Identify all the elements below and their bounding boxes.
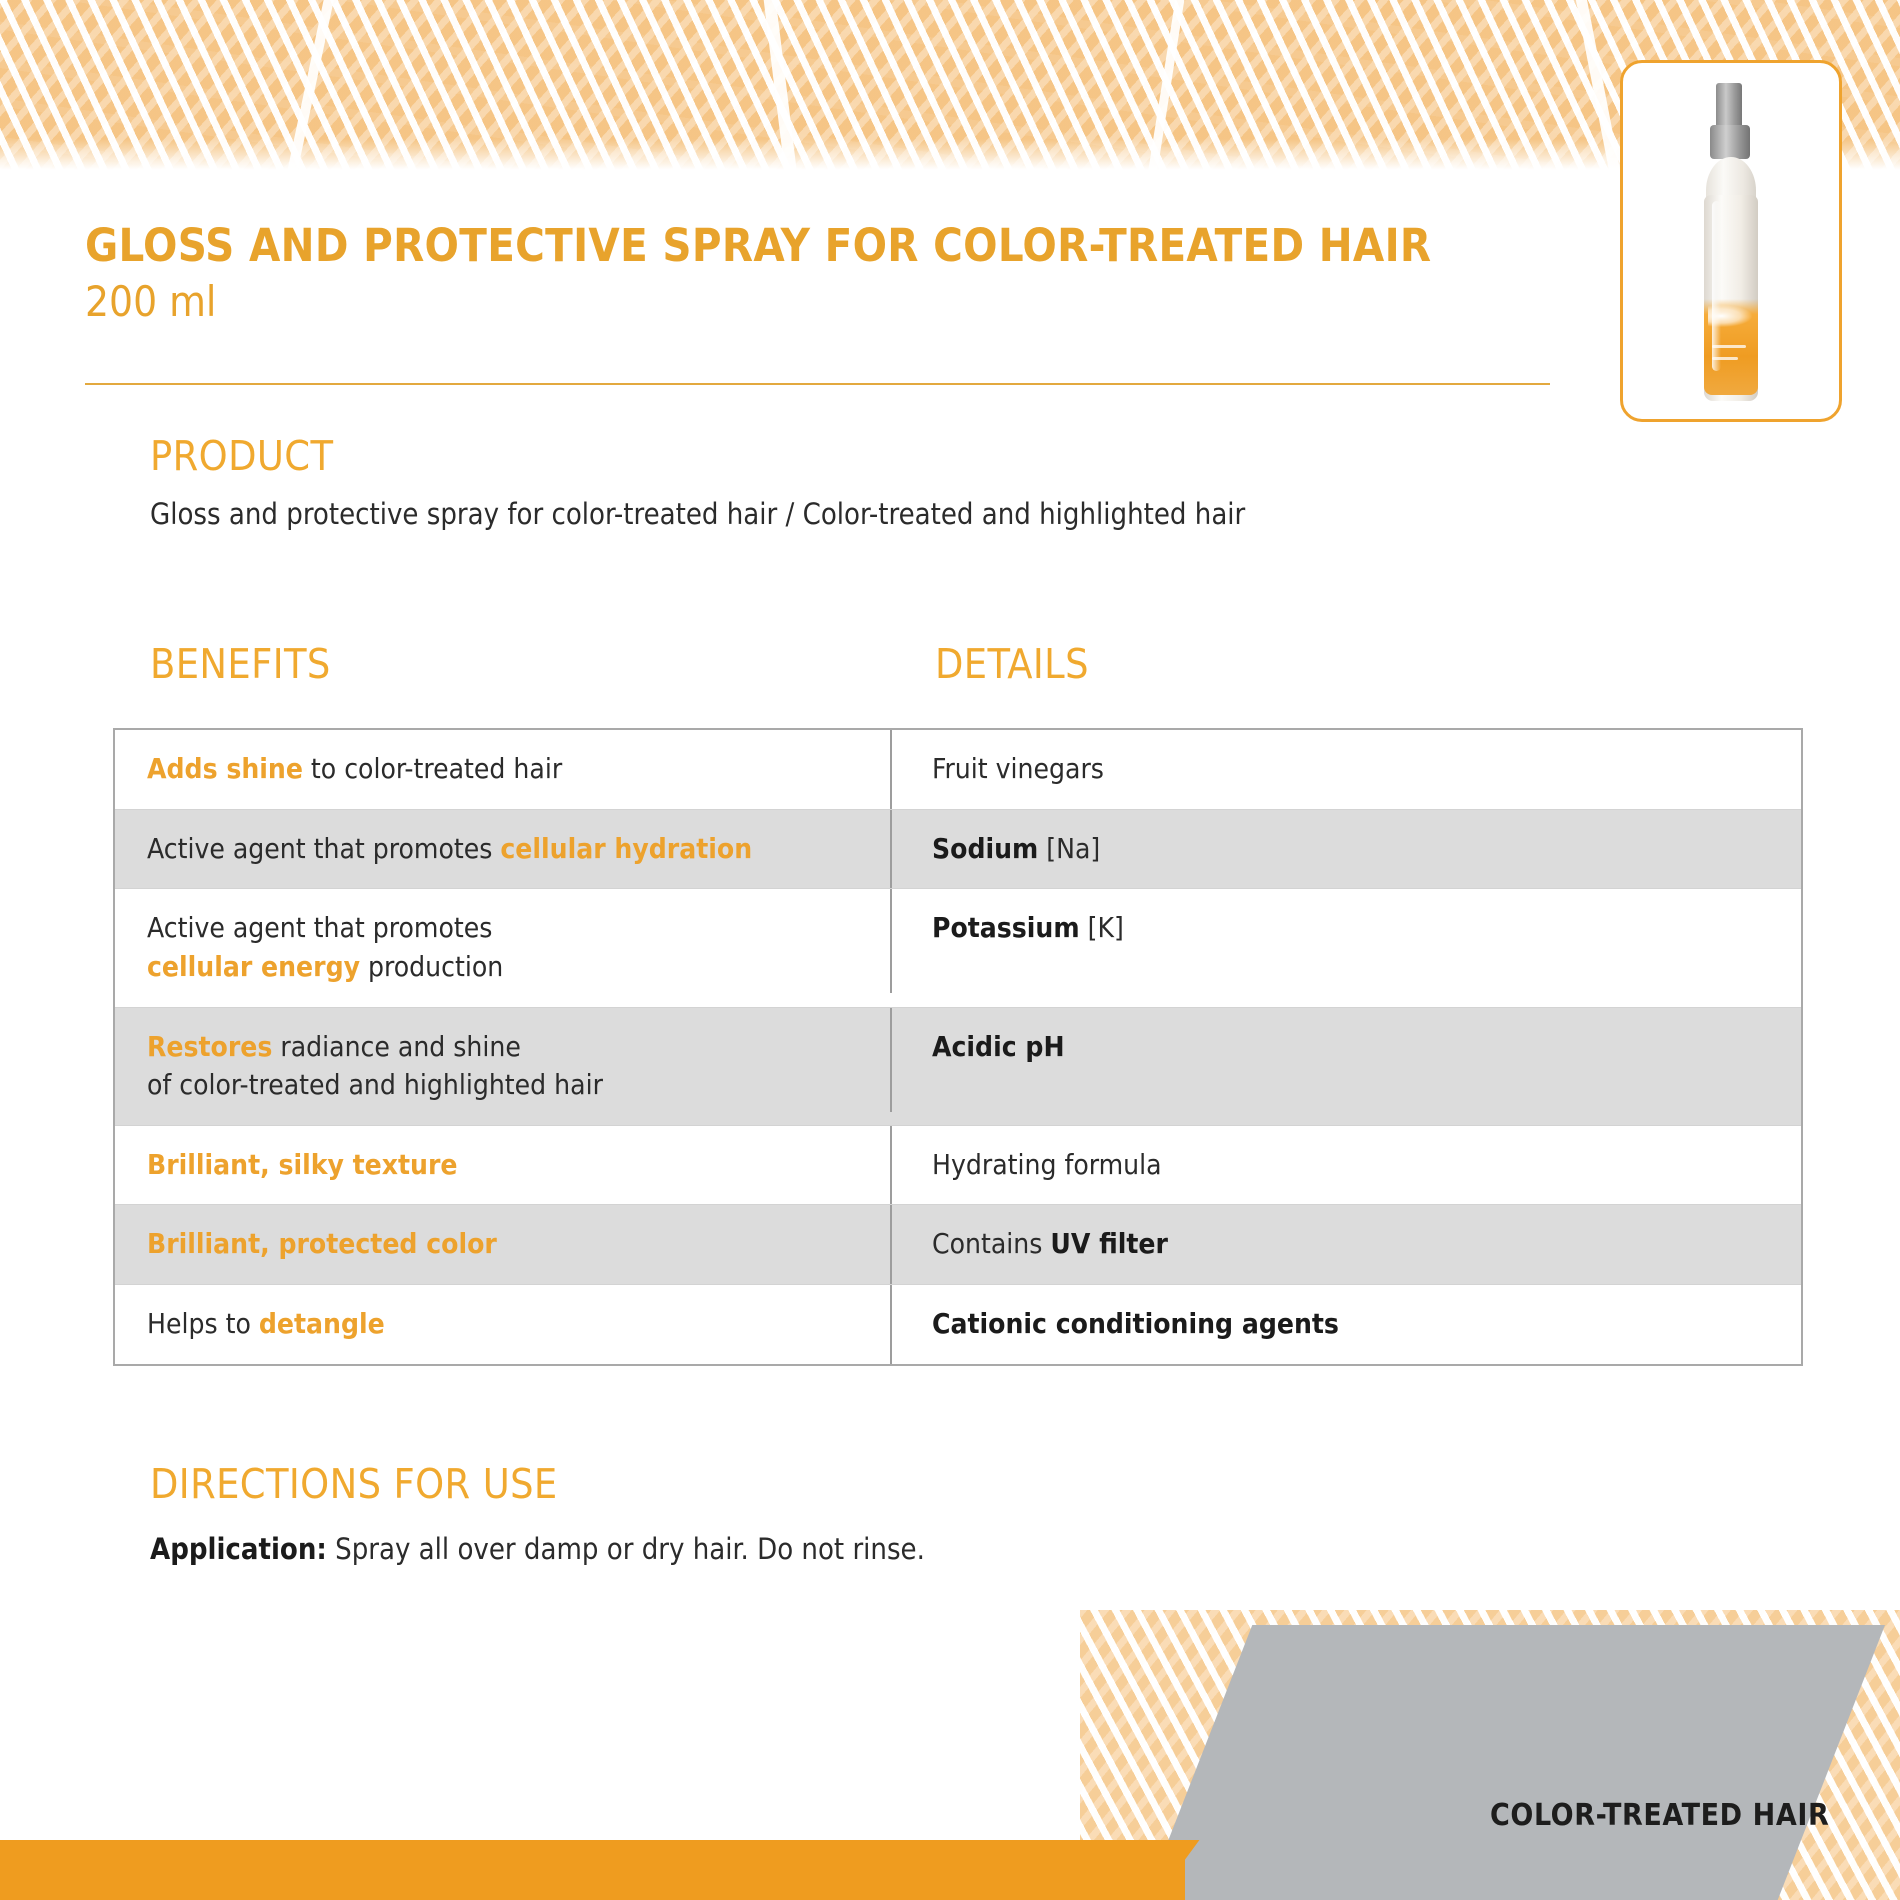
cell-text-fragment: Brilliant, silky texture — [147, 1148, 458, 1181]
cell-text-fragment: Hydrating formula — [932, 1148, 1162, 1181]
benefit-cell: Adds shine to color-treated hair — [115, 730, 890, 809]
product-bottle-icon — [1700, 83, 1762, 405]
detail-cell: Sodium [Na] — [890, 810, 1801, 889]
benefits-details-table: Adds shine to color-treated hairFruit vi… — [113, 728, 1803, 1366]
product-description: Gloss and protective spray for color-tre… — [150, 495, 1245, 534]
benefit-cell: Active agent that promotescellular energ… — [115, 889, 890, 1006]
directions-heading: DIRECTIONS FOR USE — [150, 1460, 558, 1508]
cell-text-fragment: Potassium — [932, 911, 1080, 944]
table-row: Adds shine to color-treated hairFruit vi… — [115, 730, 1801, 809]
footer-category-label: COLOR-TREATED HAIR — [1490, 1798, 1829, 1833]
benefit-cell: Active agent that promotes cellular hydr… — [115, 810, 890, 889]
table-row: Brilliant, silky textureHydrating formul… — [115, 1126, 1801, 1205]
footer-orange-bar — [0, 1840, 1185, 1900]
benefits-column-heading: BENEFITS — [150, 640, 331, 688]
cell-text-fragment: cellular hydration — [500, 832, 752, 865]
cell-text-fragment: of color-treated and highlighted hair — [147, 1068, 603, 1101]
header-leaf-texture — [0, 0, 1900, 175]
bottle-pump-collar — [1710, 125, 1750, 159]
cell-text-fragment: radiance and shine — [272, 1030, 521, 1063]
cell-text-fragment: production — [360, 950, 503, 983]
cell-text-fragment: Helps to — [147, 1307, 259, 1340]
cell-text-fragment: Restores — [147, 1030, 272, 1063]
benefit-cell: Restores radiance and shineof color-trea… — [115, 1008, 890, 1125]
cell-text-fragment: Cationic conditioning agents — [932, 1307, 1339, 1340]
footer-gray-parallelogram — [1145, 1625, 1885, 1900]
application-label: Application: — [150, 1532, 327, 1566]
table-row: Active agent that promotescellular energ… — [115, 889, 1801, 1006]
cell-text-fragment: UV filter — [1050, 1227, 1168, 1260]
title-divider — [85, 383, 1550, 385]
cell-text-fragment: Acidic pH — [932, 1030, 1065, 1063]
cell-text-fragment: detangle — [259, 1307, 385, 1340]
application-text: Spray all over damp or dry hair. Do not … — [327, 1532, 925, 1566]
product-section-heading: PRODUCT — [150, 432, 333, 480]
cell-text-fragment: Active agent that promotes — [147, 911, 492, 944]
benefit-cell: Brilliant, protected color — [115, 1205, 890, 1284]
bottle-highlight — [1712, 201, 1721, 371]
details-column-heading: DETAILS — [935, 640, 1089, 688]
cell-text-fragment: [Na] — [1038, 832, 1100, 865]
detail-cell: Acidic pH — [890, 1008, 1801, 1112]
detail-cell: Contains UV filter — [890, 1205, 1801, 1284]
cell-text-fragment: Contains — [932, 1227, 1050, 1260]
product-volume: 200 ml — [85, 279, 1585, 325]
benefit-cell: Brilliant, silky texture — [115, 1126, 890, 1205]
leaf-fade — [0, 139, 1900, 175]
cell-text-fragment: Brilliant, protected color — [147, 1227, 497, 1260]
page-title-block: GLOSS AND PROTECTIVE SPRAY FOR COLOR-TRE… — [85, 222, 1585, 325]
detail-cell: Hydrating formula — [890, 1126, 1801, 1205]
table-row: Restores radiance and shineof color-trea… — [115, 1008, 1801, 1125]
cell-text-fragment: to color-treated hair — [303, 752, 562, 785]
cell-text-fragment: Sodium — [932, 832, 1038, 865]
detail-cell: Cationic conditioning agents — [890, 1285, 1801, 1364]
bottle-spray-nozzle — [1716, 83, 1742, 127]
directions-text: Application: Spray all over damp or dry … — [150, 1530, 925, 1569]
detail-cell: Potassium [K] — [890, 889, 1801, 993]
cell-text-fragment: [K] — [1080, 911, 1124, 944]
cell-text-fragment: Fruit vinegars — [932, 752, 1104, 785]
table-row: Brilliant, protected colorContains UV fi… — [115, 1205, 1801, 1284]
table-row: Helps to detangleCationic conditioning a… — [115, 1285, 1801, 1364]
benefit-cell: Helps to detangle — [115, 1285, 890, 1364]
detail-cell: Fruit vinegars — [890, 730, 1801, 809]
table-row: Active agent that promotes cellular hydr… — [115, 810, 1801, 889]
cell-text-fragment: Adds shine — [147, 752, 303, 785]
cell-text-fragment: Active agent that promotes — [147, 832, 500, 865]
page-title: GLOSS AND PROTECTIVE SPRAY FOR COLOR-TRE… — [85, 222, 1585, 271]
product-image-box — [1620, 60, 1842, 422]
cell-text-fragment: cellular energy — [147, 950, 360, 983]
